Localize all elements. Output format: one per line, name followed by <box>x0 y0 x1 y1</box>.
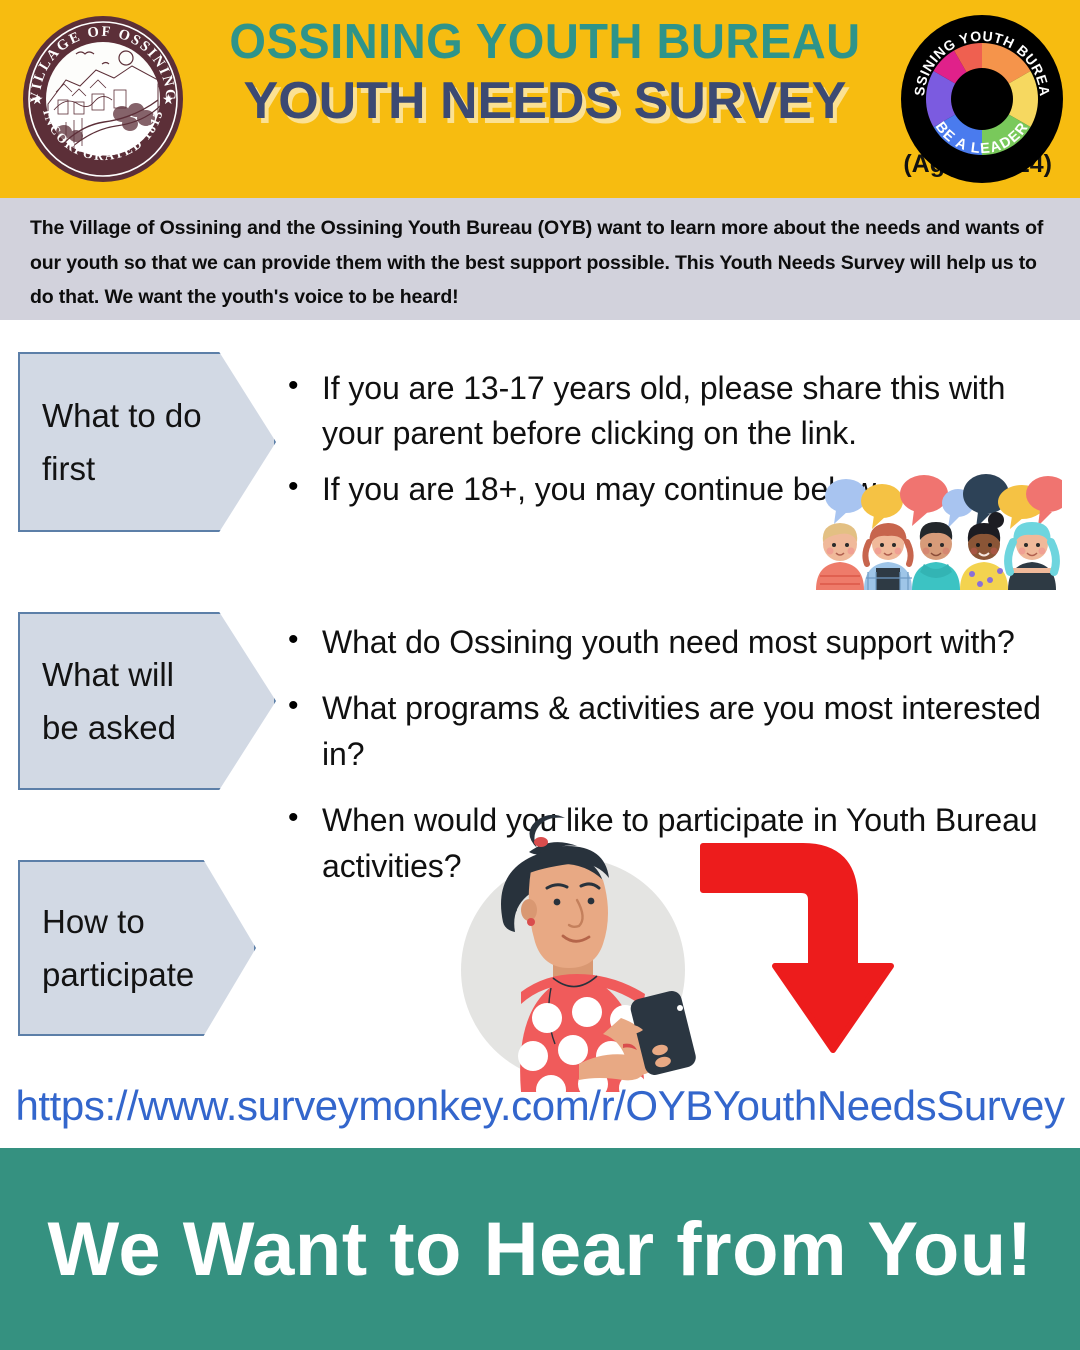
bullet-item: What do Ossining youth need most support… <box>280 620 1080 665</box>
badge-label-line1: What will <box>42 648 274 701</box>
ossining-youth-bureau-logo: OSSINING YOUTH BUREAU BE A LEADER <box>897 14 1067 184</box>
survey-url-link[interactable]: https://www.surveymonkey.com/r/OYBYouthN… <box>0 1082 1080 1130</box>
svg-text:★: ★ <box>162 91 175 107</box>
bullet-item: What programs & activities are you most … <box>280 686 1080 777</box>
title-block: OSSINING YOUTH BUREAU YOUTH NEEDS SURVEY <box>210 16 880 129</box>
village-of-ossining-seal: VILLAGE OF OSSINING INCORPORATED 1813 ★ … <box>18 14 188 184</box>
red-down-arrow-icon <box>695 838 930 1073</box>
page-subtitle: YOUTH NEEDS SURVEY <box>210 73 880 129</box>
footer-banner: We Want to Hear from You! <box>0 1148 1080 1350</box>
bullet-item: If you are 13-17 years old, please share… <box>280 366 1070 457</box>
svg-text:★: ★ <box>31 91 44 107</box>
badge-what-will-be-asked: What will be asked <box>18 612 276 790</box>
intro-paragraph: The Village of Ossining and the Ossining… <box>30 211 1054 315</box>
page-title: OSSINING YOUTH BUREAU <box>223 16 866 69</box>
badge-label-line2: participate <box>42 948 254 1001</box>
header-banner: VILLAGE OF OSSINING INCORPORATED 1813 ★ … <box>0 0 1080 198</box>
person-with-phone-illustration <box>425 812 705 1092</box>
intro-band: The Village of Ossining and the Ossining… <box>0 198 1080 320</box>
badge-what-to-do-first: What to do first <box>18 352 276 532</box>
badge-how-to-participate: How to participate <box>18 860 256 1036</box>
footer-headline: We Want to Hear from You! <box>47 1206 1032 1293</box>
badge-label-line2: first <box>42 442 274 495</box>
youth-group-speech-bubbles-illustration <box>800 472 1062 590</box>
badge-label-line1: How to <box>42 895 254 948</box>
badge-label-line1: What to do <box>42 389 274 442</box>
flyer-page: VILLAGE OF OSSINING INCORPORATED 1813 ★ … <box>0 0 1080 1350</box>
badge-label-line2: be asked <box>42 701 274 754</box>
